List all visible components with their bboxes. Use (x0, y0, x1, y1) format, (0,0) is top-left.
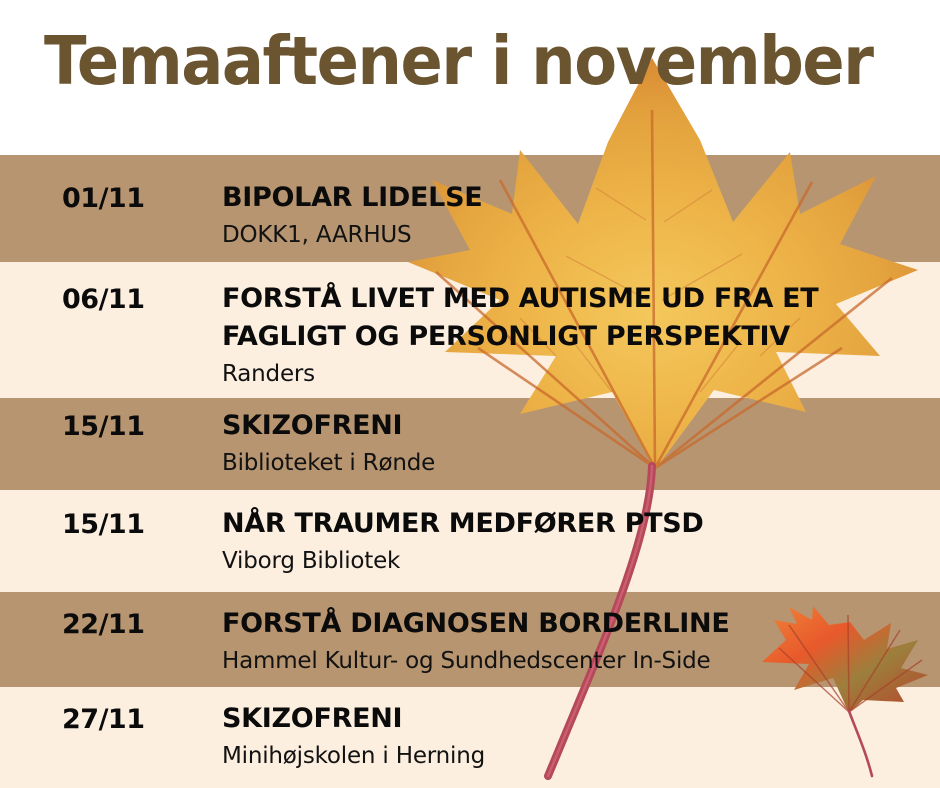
event-place: Minihøjskolen i Herning (222, 740, 922, 773)
event-list: 01/11 BIPOLAR LIDELSE DOKK1, AARHUS 06/1… (0, 0, 940, 788)
event-body: BIPOLAR LIDELSE DOKK1, AARHUS (222, 179, 922, 252)
event-place: Randers (222, 358, 922, 391)
event-title: NÅR TRAUMER MEDFØRER PTSD (222, 505, 922, 543)
event-date: 01/11 (62, 183, 145, 214)
event-title: FORSTÅ DIAGNOSEN BORDERLINE (222, 605, 922, 643)
event-body: FORSTÅ DIAGNOSEN BORDERLINE Hammel Kultu… (222, 605, 922, 678)
event-place: DOKK1, AARHUS (222, 219, 922, 252)
event-title-line2: FAGLIGT OG PERSONLIGT PERSPEKTIV (222, 318, 922, 356)
event-title: BIPOLAR LIDELSE (222, 179, 922, 217)
event-body: FORSTÅ LIVET MED AUTISME UD FRA ET FAGLI… (222, 280, 922, 391)
list-item[interactable]: 01/11 BIPOLAR LIDELSE DOKK1, AARHUS (0, 155, 940, 262)
event-date: 27/11 (62, 704, 145, 735)
event-date: 15/11 (62, 411, 145, 442)
list-item[interactable]: 15/11 NÅR TRAUMER MEDFØRER PTSD Viborg B… (0, 490, 940, 592)
event-date: 22/11 (62, 609, 145, 640)
event-date: 06/11 (62, 284, 145, 315)
list-item[interactable]: 06/11 FORSTÅ LIVET MED AUTISME UD FRA ET… (0, 262, 940, 398)
event-body: SKIZOFRENI Minihøjskolen i Herning (222, 700, 922, 773)
event-place: Biblioteket i Rønde (222, 447, 922, 480)
event-body: SKIZOFRENI Biblioteket i Rønde (222, 407, 922, 480)
event-title: FORSTÅ LIVET MED AUTISME UD FRA ET (222, 280, 922, 318)
event-place: Viborg Bibliotek (222, 545, 922, 578)
event-place: Hammel Kultur- og Sundhedscenter In-Side (222, 645, 922, 678)
event-title: SKIZOFRENI (222, 700, 922, 738)
event-title: SKIZOFRENI (222, 407, 922, 445)
event-body: NÅR TRAUMER MEDFØRER PTSD Viborg Bibliot… (222, 505, 922, 578)
poster-canvas: Temaaftener i november 01/11 BIPOLAR LID… (0, 0, 940, 788)
list-item[interactable]: 15/11 SKIZOFRENI Biblioteket i Rønde (0, 398, 940, 490)
list-item[interactable]: 27/11 SKIZOFRENI Minihøjskolen i Herning (0, 687, 940, 788)
event-date: 15/11 (62, 509, 145, 540)
list-item[interactable]: 22/11 FORSTÅ DIAGNOSEN BORDERLINE Hammel… (0, 592, 940, 687)
